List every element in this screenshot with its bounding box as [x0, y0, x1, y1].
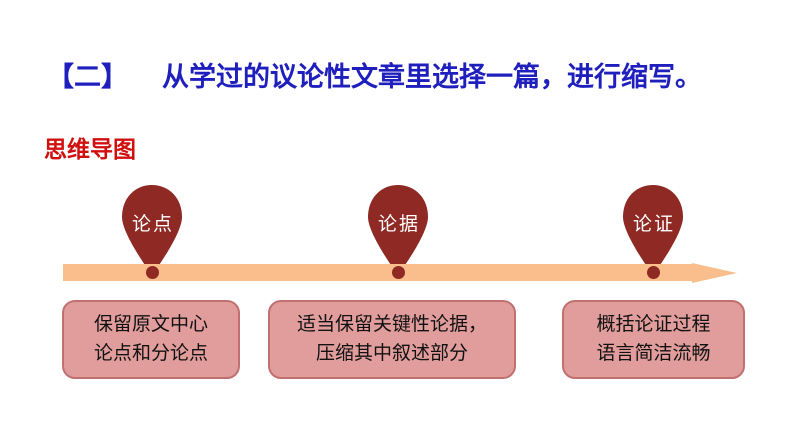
timeline-pin-2[interactable]: 论据 — [362, 183, 434, 275]
heading-text: 从学过的议论性文章里选择一篇，进行缩写。 — [162, 62, 702, 94]
description-box-2[interactable]: 适当保留关键性论据， 压缩其中叙述部分 — [268, 300, 516, 379]
description-box-1-line-2: 论点和分论点 — [64, 339, 238, 368]
description-box-1[interactable]: 保留原文中心 论点和分论点 — [62, 300, 240, 379]
description-box-3-line-1: 概括论证过程 — [564, 310, 743, 339]
slide-canvas: 【二】从学过的议论性文章里选择一篇，进行缩写。 思维导图 论点 论据 论证 保留… — [0, 0, 794, 447]
description-box-2-line-2: 压缩其中叙述部分 — [270, 339, 514, 368]
description-box-1-line-1: 保留原文中心 — [64, 310, 238, 339]
description-box-3[interactable]: 概括论证过程 语言简洁流畅 — [562, 300, 745, 379]
heading-marker: 【二】 — [47, 62, 128, 94]
subheading-mind-map: 思维导图 — [44, 130, 136, 164]
slide-heading: 【二】从学过的议论性文章里选择一篇，进行缩写。 — [47, 62, 702, 94]
map-pin-icon — [362, 183, 434, 275]
map-pin-icon — [116, 183, 188, 275]
description-box-2-line-1: 适当保留关键性论据， — [270, 310, 514, 339]
arrow-head-icon — [692, 263, 737, 283]
timeline-arrow — [63, 263, 737, 283]
timeline-dot-3 — [647, 266, 660, 279]
map-pin-icon — [617, 183, 689, 275]
timeline-dot-2 — [392, 266, 405, 279]
timeline-pin-1[interactable]: 论点 — [116, 183, 188, 275]
timeline-dot-1 — [146, 266, 159, 279]
description-box-3-line-2: 语言简洁流畅 — [564, 339, 743, 368]
timeline-pin-3[interactable]: 论证 — [617, 183, 689, 275]
